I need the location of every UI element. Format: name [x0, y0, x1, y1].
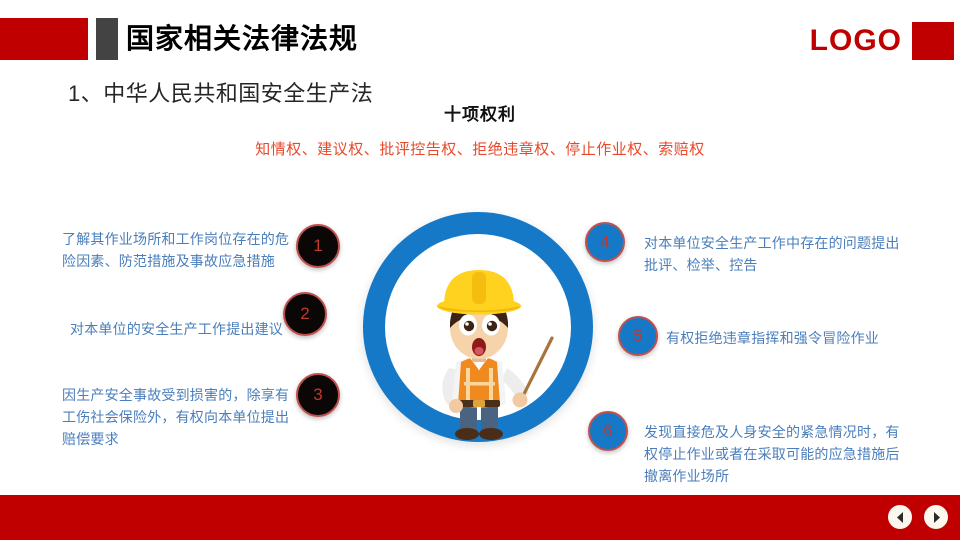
- right-text-3: 因生产安全事故受到损害的，除享有工伤社会保险外，有权向本单位提出赔偿要求: [62, 384, 297, 450]
- number-badge-4[interactable]: 4: [585, 222, 625, 262]
- arrow-left-icon: [894, 511, 907, 524]
- right-text-2: 对本单位的安全生产工作提出建议: [70, 318, 285, 340]
- rights-list: 知情权、建议权、批评控告权、拒绝违章权、停止作业权、索赔权: [0, 138, 960, 159]
- header-grey-block: [96, 18, 118, 60]
- right-text-5: 有权拒绝违章指挥和强令冒险作业: [666, 327, 906, 349]
- page-title: 国家相关法律法规: [126, 20, 358, 58]
- right-text-4: 对本单位安全生产工作中存在的问题提出批评、检举、控告: [644, 232, 906, 276]
- slide: 国家相关法律法规 LOGO 1、中华人民共和国安全生产法 十项权利 知情权、建议…: [0, 0, 960, 540]
- right-text-1: 了解其作业场所和工作岗位存在的危险因素、防范措施及事故应急措施: [62, 228, 292, 272]
- footer-bar: [0, 495, 960, 540]
- next-slide-button[interactable]: [924, 505, 948, 529]
- logo-text: LOGO: [810, 24, 902, 58]
- number-badge-2[interactable]: 2: [283, 292, 327, 336]
- logo-red-block: [912, 22, 954, 60]
- right-text-6: 发现直接危及人身安全的紧急情况时，有权停止作业或者在采取可能的应急措施后撤离作业…: [644, 421, 912, 487]
- number-badge-1[interactable]: 1: [296, 224, 340, 268]
- arrow-right-icon: [930, 511, 943, 524]
- header-red-block: [0, 18, 88, 60]
- prev-slide-button[interactable]: [888, 505, 912, 529]
- number-badge-3[interactable]: 3: [296, 373, 340, 417]
- number-badge-6[interactable]: 6: [588, 411, 628, 451]
- construction-worker-icon: [404, 250, 554, 440]
- number-badge-5[interactable]: 5: [618, 316, 658, 356]
- rights-title: 十项权利: [0, 100, 960, 125]
